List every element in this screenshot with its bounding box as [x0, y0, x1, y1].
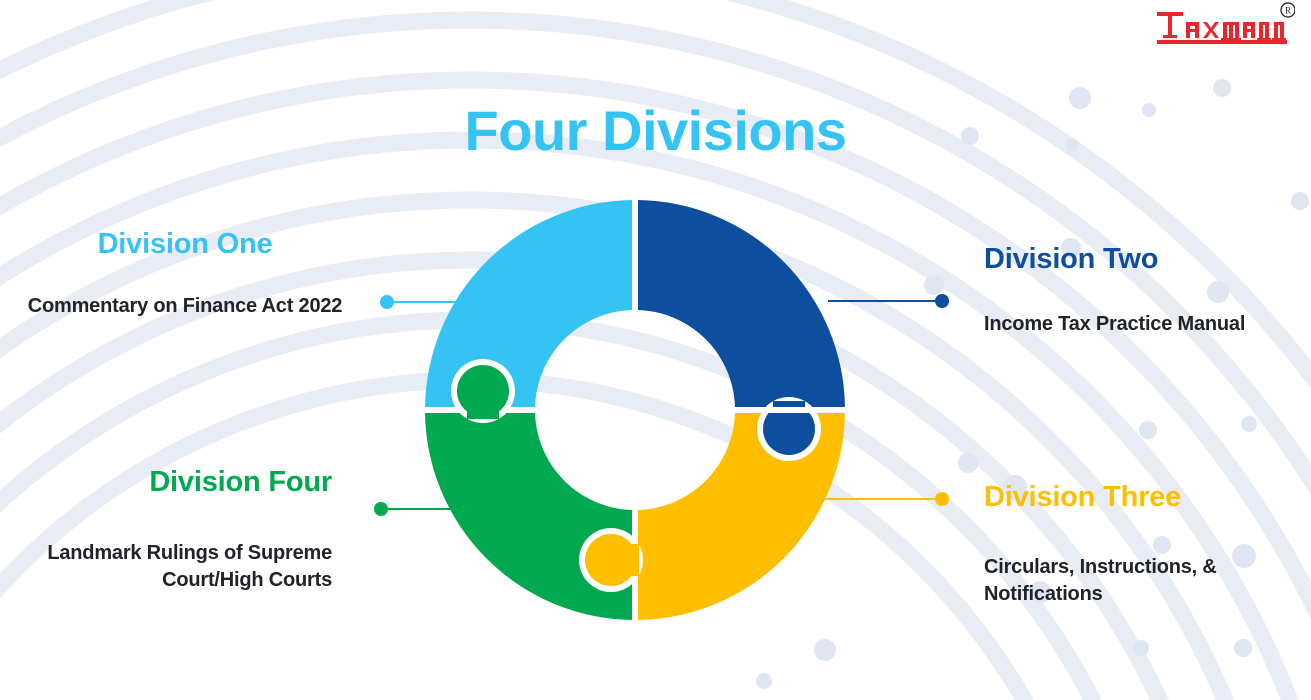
- division-one-title: Division One: [10, 228, 360, 261]
- label-block-division-two: Division Two Income Tax Practice Manual: [984, 243, 1294, 338]
- division-four-description: Landmark Rulings of Supreme Court/High C…: [30, 540, 332, 594]
- registered-trademark-icon: R: [1281, 3, 1295, 17]
- connector-dot-division-four: [374, 502, 388, 516]
- connector-dot-division-three: [935, 492, 949, 506]
- svg-text:R: R: [1285, 6, 1291, 16]
- division-one-description: Commentary on Finance Act 2022: [10, 293, 360, 320]
- infographic-canvas: R Four Divisions: [0, 0, 1311, 700]
- label-block-division-one: Division One Commentary on Finance Act 2…: [10, 228, 360, 320]
- connector-dot-division-two: [935, 294, 949, 308]
- taxmann-logo: R: [1155, 2, 1295, 48]
- page-title: Four Divisions: [0, 100, 1311, 162]
- division-two-title: Division Two: [984, 243, 1294, 276]
- connector-line-division-one: [386, 301, 500, 303]
- connector-dot-division-one: [380, 295, 394, 309]
- label-block-division-three: Division Three Circulars, Instructions, …: [984, 481, 1304, 608]
- division-four-title: Division Four: [30, 466, 332, 499]
- label-block-division-four: Division Four Landmark Rulings of Suprem…: [30, 466, 332, 594]
- donut-knob-green-into-cyan: [451, 359, 515, 423]
- division-three-title: Division Three: [984, 481, 1304, 514]
- connector-line-division-two: [828, 300, 942, 302]
- connector-line-division-four: [380, 508, 496, 510]
- connector-line-division-three: [824, 498, 942, 500]
- division-three-description: Circulars, Instructions, & Notifications: [984, 554, 1304, 608]
- division-two-description: Income Tax Practice Manual: [984, 311, 1294, 338]
- jigsaw-donut-chart: [425, 200, 845, 620]
